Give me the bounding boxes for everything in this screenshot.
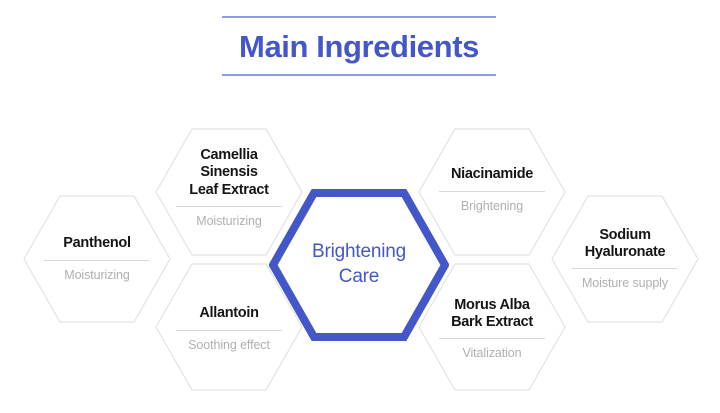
ingredient-hex-sodium-hyaluronate[interactable]: Sodium Hyaluronate Moisture supply — [551, 195, 699, 323]
ingredient-benefit: Vitalization — [462, 346, 521, 361]
hex-divider — [176, 206, 283, 207]
hex-divider — [44, 260, 151, 261]
hex-divider — [176, 330, 283, 331]
ingredient-name: Camellia Sinensis Leaf Extract — [189, 147, 268, 198]
ingredient-name: Allantoin — [199, 305, 258, 322]
main-ingredients-graphic: Main Ingredients Panthenol Moisturizing … — [0, 0, 720, 413]
ingredient-name: Sodium Hyaluronate — [585, 227, 666, 261]
hex-divider — [439, 191, 546, 192]
ingredient-benefit: Moisture supply — [582, 276, 668, 291]
ingredient-benefit: Brightening — [461, 199, 523, 214]
ingredient-benefit: Soothing effect — [188, 338, 270, 353]
ingredient-name: Panthenol — [63, 235, 130, 252]
hex-divider — [439, 338, 546, 339]
hex-divider — [572, 268, 679, 269]
ingredient-benefit: Moisturizing — [64, 268, 130, 283]
ingredients-hex-diagram: Panthenol Moisturizing Camellia Sinensis… — [0, 0, 720, 413]
center-hex-label: Brightening Care — [312, 240, 406, 289]
ingredient-name: Morus Alba Bark Extract — [451, 297, 533, 331]
ingredient-benefit: Moisturizing — [196, 214, 262, 229]
ingredient-name: Niacinamide — [451, 166, 533, 183]
ingredient-hex-panthenol[interactable]: Panthenol Moisturizing — [23, 195, 171, 323]
